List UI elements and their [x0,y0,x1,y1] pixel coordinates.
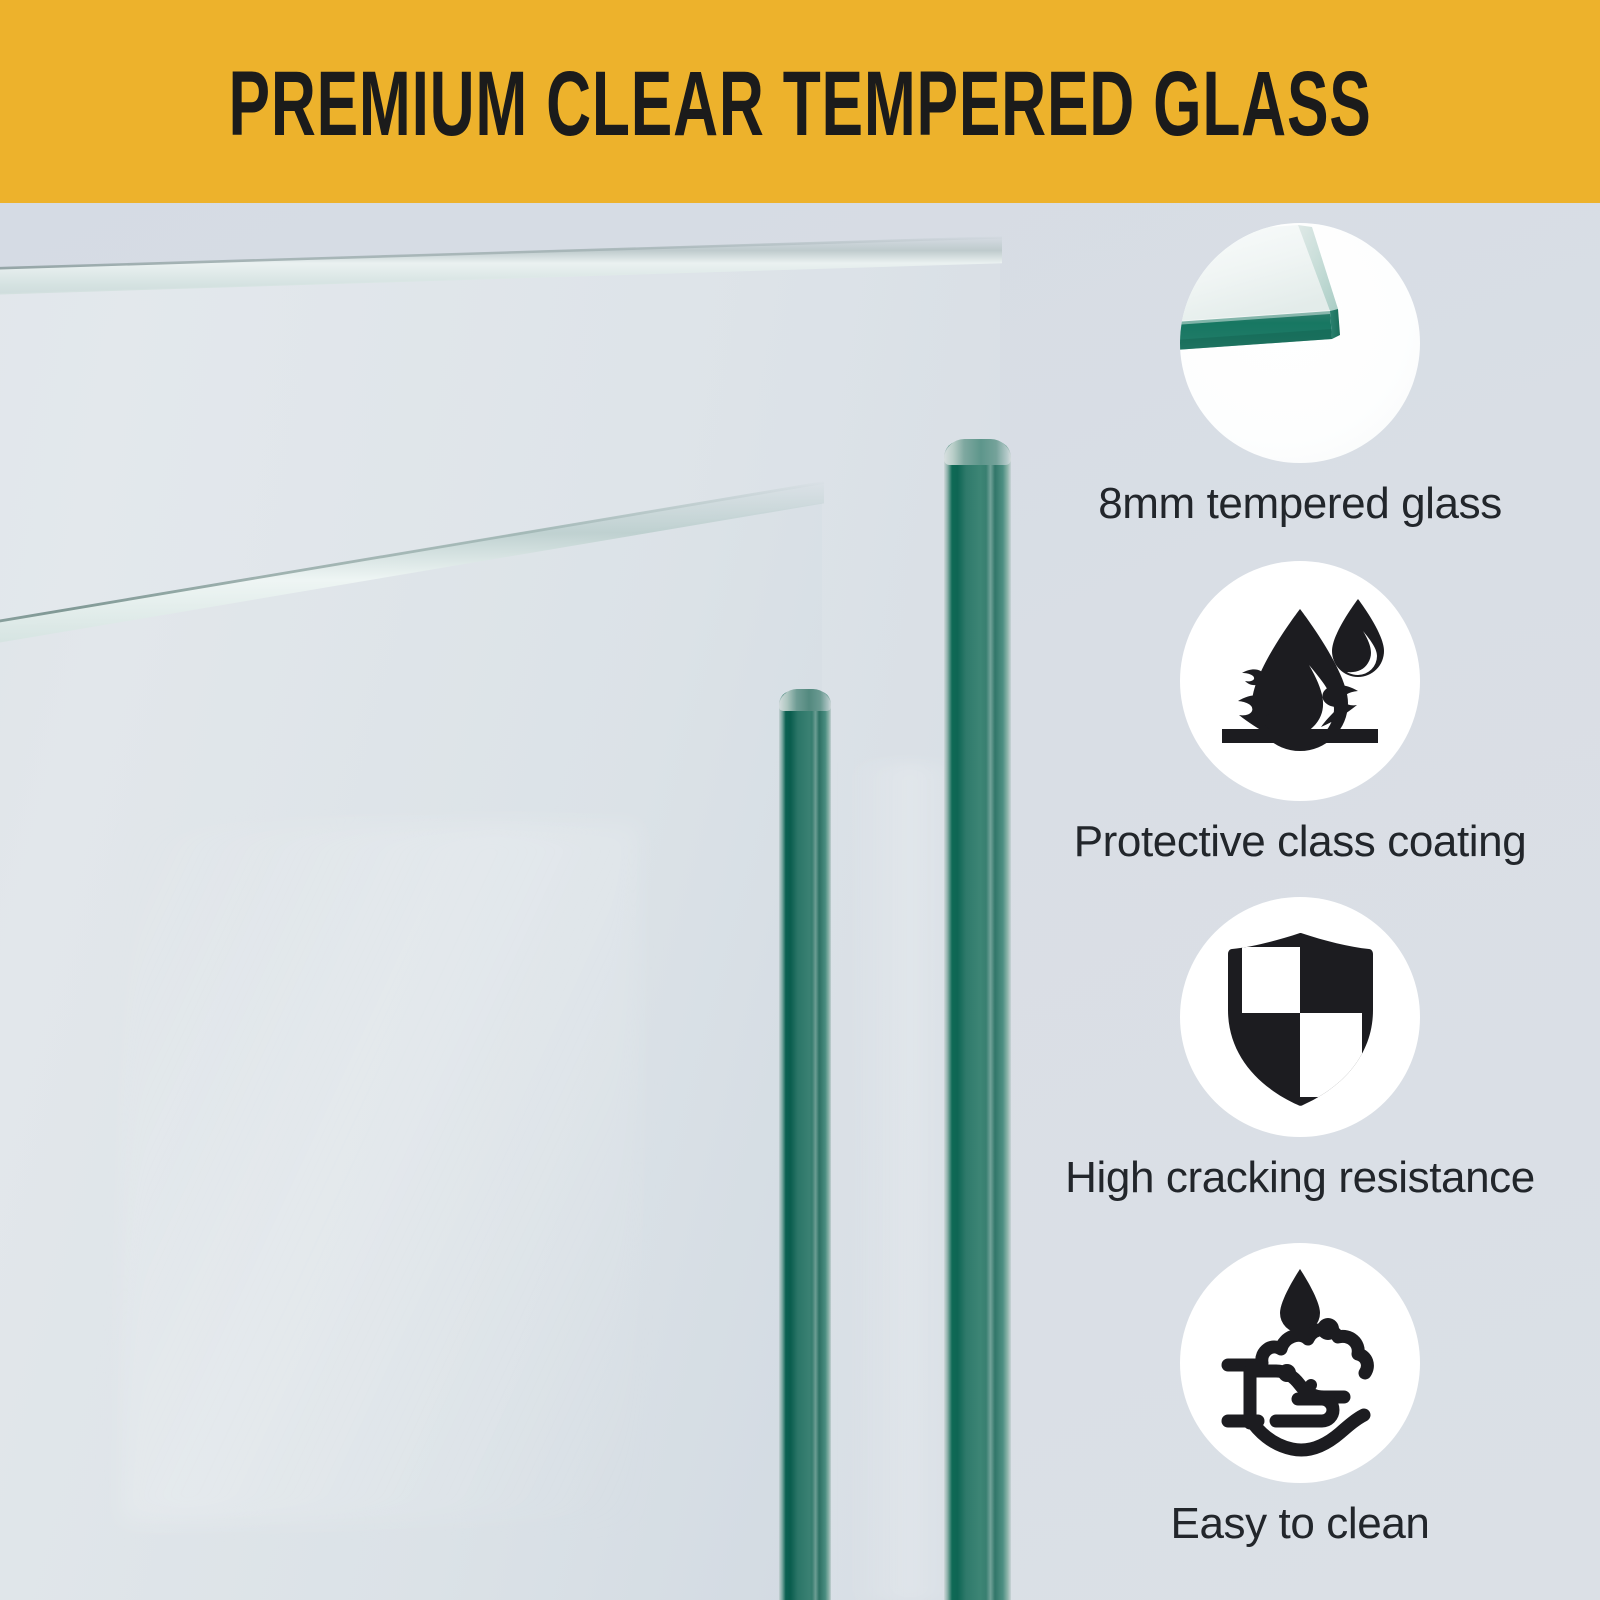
hand-with-soap-suds-artwork [1180,1243,1420,1483]
feature-item-cleaning: Easy to clean [1000,1243,1600,1549]
feature-item-thickness: 8mm tempered glass [1000,223,1600,529]
hand-with-soap-suds-icon [1180,1243,1420,1483]
content-area: 8mm tempered glass [0,203,1600,1600]
feature-item-coating: Protective class coating [1000,561,1600,867]
page-title: PREMIUM CLEAR TEMPERED GLASS [228,59,1371,151]
feature-label-resistance: High cracking resistance [1000,1153,1600,1203]
glass-reflection-left [120,823,640,1523]
feature-label-coating: Protective class coating [1000,817,1600,867]
front-glass-edge-highlight [812,703,819,1600]
glass-edge-sample-artwork [1180,223,1420,463]
glass-product-image [0,203,1060,1600]
water-droplet-repellent-artwork [1180,561,1420,801]
feature-label-thickness: 8mm tempered glass [1000,479,1600,529]
front-glass-edge-top-cap [779,689,831,711]
shield-checkered-icon [1180,897,1420,1137]
product-infographic: PREMIUM CLEAR TEMPERED GLASS [0,0,1600,1600]
header-banner: PREMIUM CLEAR TEMPERED GLASS [0,0,1600,203]
feature-list: 8mm tempered glass [1000,203,1600,1600]
feature-label-cleaning: Easy to clean [1000,1499,1600,1549]
back-glass-edge-highlight [986,453,995,1600]
glass-edge-sample-icon [1180,223,1420,463]
water-droplet-repellent-icon [1180,561,1420,801]
feature-item-resistance: High cracking resistance [1000,897,1600,1203]
front-glass-panel-green-edge [779,691,831,1600]
shield-checkered-artwork [1180,897,1420,1137]
